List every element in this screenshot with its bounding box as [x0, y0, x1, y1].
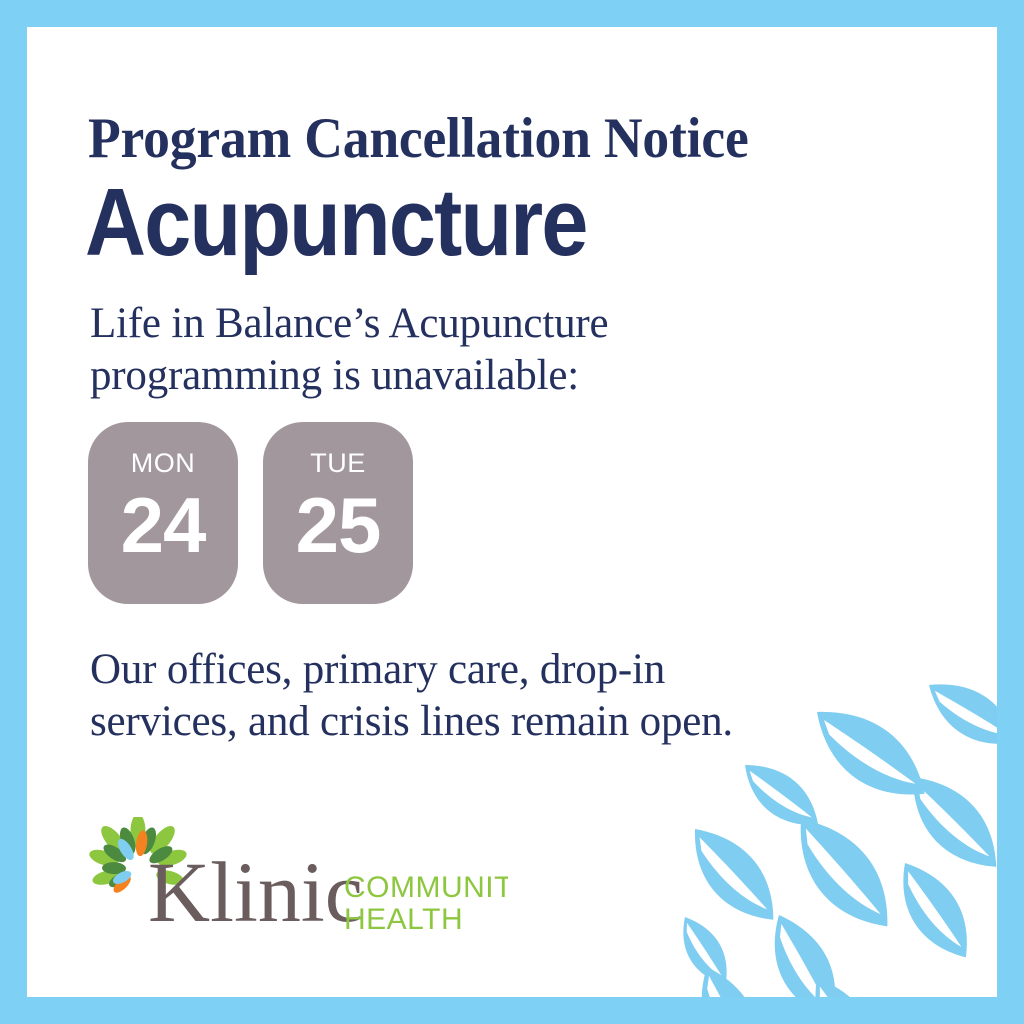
closing-line-1: Our offices, primary care, drop-in — [90, 644, 850, 696]
poster-canvas: Program Cancellation Notice Acupuncture … — [0, 0, 1024, 1024]
logo-wordmark-text: Klinic — [148, 844, 363, 940]
content-column: Program Cancellation Notice Acupuncture … — [88, 27, 968, 997]
poster-inner-surface: Program Cancellation Notice Acupuncture … — [27, 27, 997, 997]
date-card-day: 24 — [121, 486, 206, 564]
date-card-weekday: MON — [131, 450, 196, 477]
logo-tagline-line-2: HEALTH — [344, 903, 463, 936]
lede-line-1: Life in Balance’s Acupuncture — [90, 298, 730, 350]
date-card-mon: MON 24 — [88, 422, 238, 604]
date-card-tue: TUE 25 — [263, 422, 413, 604]
closing-paragraph: Our offices, primary care, drop-in servi… — [90, 644, 850, 749]
date-card-list: MON 24 TUE 25 — [88, 422, 413, 604]
date-card-day: 25 — [296, 486, 381, 564]
lede-line-2: programming is unavailable: — [90, 350, 730, 402]
lede-paragraph: Life in Balance’s Acupuncture programmin… — [90, 298, 730, 403]
logo-tagline-line-1: COMMUNITY — [344, 871, 508, 904]
page-title-program-name: Acupuncture — [85, 175, 587, 271]
klinic-logo: Klinic COMMUNITY HEALTH — [88, 817, 508, 942]
page-eyebrow-title: Program Cancellation Notice — [88, 110, 749, 167]
closing-line-2: services, and crisis lines remain open. — [90, 696, 850, 748]
date-card-weekday: TUE — [310, 450, 366, 477]
